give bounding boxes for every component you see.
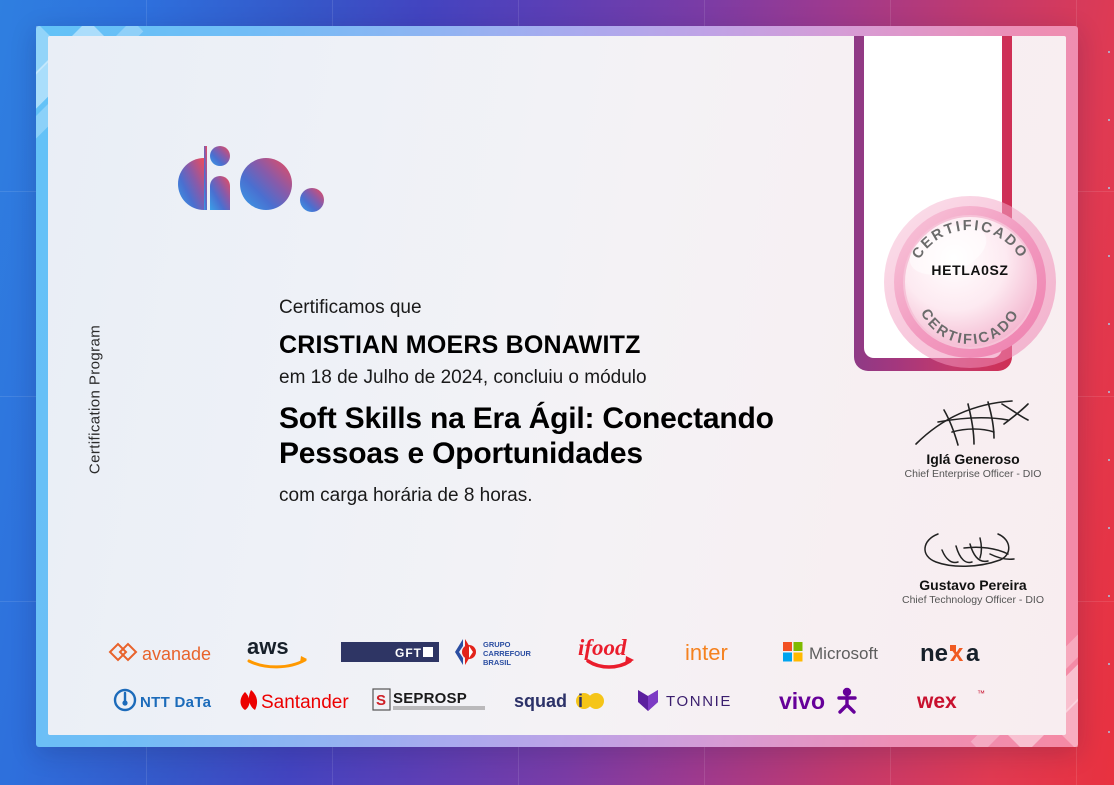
workload-text: com carga horária de 8 horas. <box>279 485 879 507</box>
signature-name: Iglá Generoso <box>873 451 1066 467</box>
sponsor-seprosp: S SEPROSP <box>366 676 497 724</box>
svg-text:ifood: ifood <box>578 635 627 660</box>
dio-logo <box>162 140 332 212</box>
recipient-name: CRISTIAN MOERS BONAWITZ <box>279 331 879 360</box>
svg-text:NTT DaTa: NTT DaTa <box>140 694 212 711</box>
signature-role: Chief Technology Officer - DIO <box>873 594 1066 606</box>
sponsor-avanade: avanade <box>104 628 222 676</box>
svg-text:TONNIE: TONNIE <box>666 693 732 710</box>
completion-date: em 18 de Julho de 2024, concluiu o módul… <box>279 367 879 389</box>
course-title: Soft Skills na Era Ágil: Conectando Pess… <box>279 401 879 471</box>
sponsor-ifood: ifood <box>558 628 670 676</box>
svg-text:inter: inter <box>685 640 728 665</box>
sponsor-carrefour: GRUPO CARREFOUR BRASIL <box>446 628 558 676</box>
svg-text:Microsoft: Microsoft <box>809 644 878 663</box>
svg-text:GFT: GFT <box>395 646 422 660</box>
sponsor-santander: Santander <box>235 676 366 724</box>
certificate-card: Certification Program Certificamos que C… <box>48 36 1066 735</box>
sponsor-wex: wex ™ <box>889 676 1020 724</box>
svg-text:squad: squad <box>514 691 567 711</box>
certification-program-label: Certification Program <box>87 310 104 490</box>
sponsor-row-1: avanade aws GFT <box>88 628 1036 676</box>
svg-text:ne: ne <box>920 640 948 667</box>
signature-mark-icon <box>873 524 1066 576</box>
svg-text:SEPROSP: SEPROSP <box>393 690 467 707</box>
certificate-seal: CERTIFICADO CERTIFICADO HETLA0SZ <box>882 194 1058 370</box>
svg-text:x: x <box>950 640 964 667</box>
sponsor-vivo: vivo <box>758 676 889 724</box>
intro-text: Certificamos que <box>279 294 879 322</box>
svg-text:S: S <box>376 692 386 709</box>
signature-role: Chief Enterprise Officer - DIO <box>873 468 1066 480</box>
sponsor-nexa: ne x a <box>908 628 1020 676</box>
svg-text:™: ™ <box>977 689 985 698</box>
sponsor-row-2: NTT DaTa Santander S <box>88 676 1036 724</box>
signature-block-1: Iglá Generoso Chief Enterprise Officer -… <box>873 398 1066 480</box>
svg-text:BRASIL: BRASIL <box>483 658 511 667</box>
svg-text:CARREFOUR: CARREFOUR <box>483 649 531 658</box>
signature-name: Gustavo Pereira <box>873 577 1066 593</box>
certificate-root: Certification Program Certificamos que C… <box>0 0 1114 785</box>
signature-mark-icon <box>873 398 1066 450</box>
sponsor-logos: avanade aws GFT <box>88 628 1036 724</box>
svg-text:a: a <box>966 640 980 667</box>
certificate-body: Certificamos que CRISTIAN MOERS BONAWITZ… <box>279 294 879 507</box>
svg-text:i: i <box>578 691 583 711</box>
svg-text:Santander: Santander <box>261 692 349 713</box>
sponsor-gft: GFT <box>334 628 446 676</box>
sponsor-inter: inter <box>670 628 782 676</box>
svg-text:aws: aws <box>247 634 289 659</box>
svg-text:avanade: avanade <box>142 644 211 664</box>
svg-text:vivo: vivo <box>779 688 825 714</box>
sponsor-squadio: squad i <box>497 676 628 724</box>
sponsor-ntt-data: NTT DaTa <box>104 676 235 724</box>
sponsor-tonnie: TONNIE <box>627 676 758 724</box>
signature-block-2: Gustavo Pereira Chief Technology Officer… <box>873 524 1066 606</box>
svg-text:wex: wex <box>916 690 957 713</box>
svg-text:GRUPO: GRUPO <box>483 640 511 649</box>
sponsor-aws: aws <box>222 628 334 676</box>
sponsor-microsoft: Microsoft <box>782 628 908 676</box>
seal-code: HETLA0SZ <box>882 262 1058 278</box>
